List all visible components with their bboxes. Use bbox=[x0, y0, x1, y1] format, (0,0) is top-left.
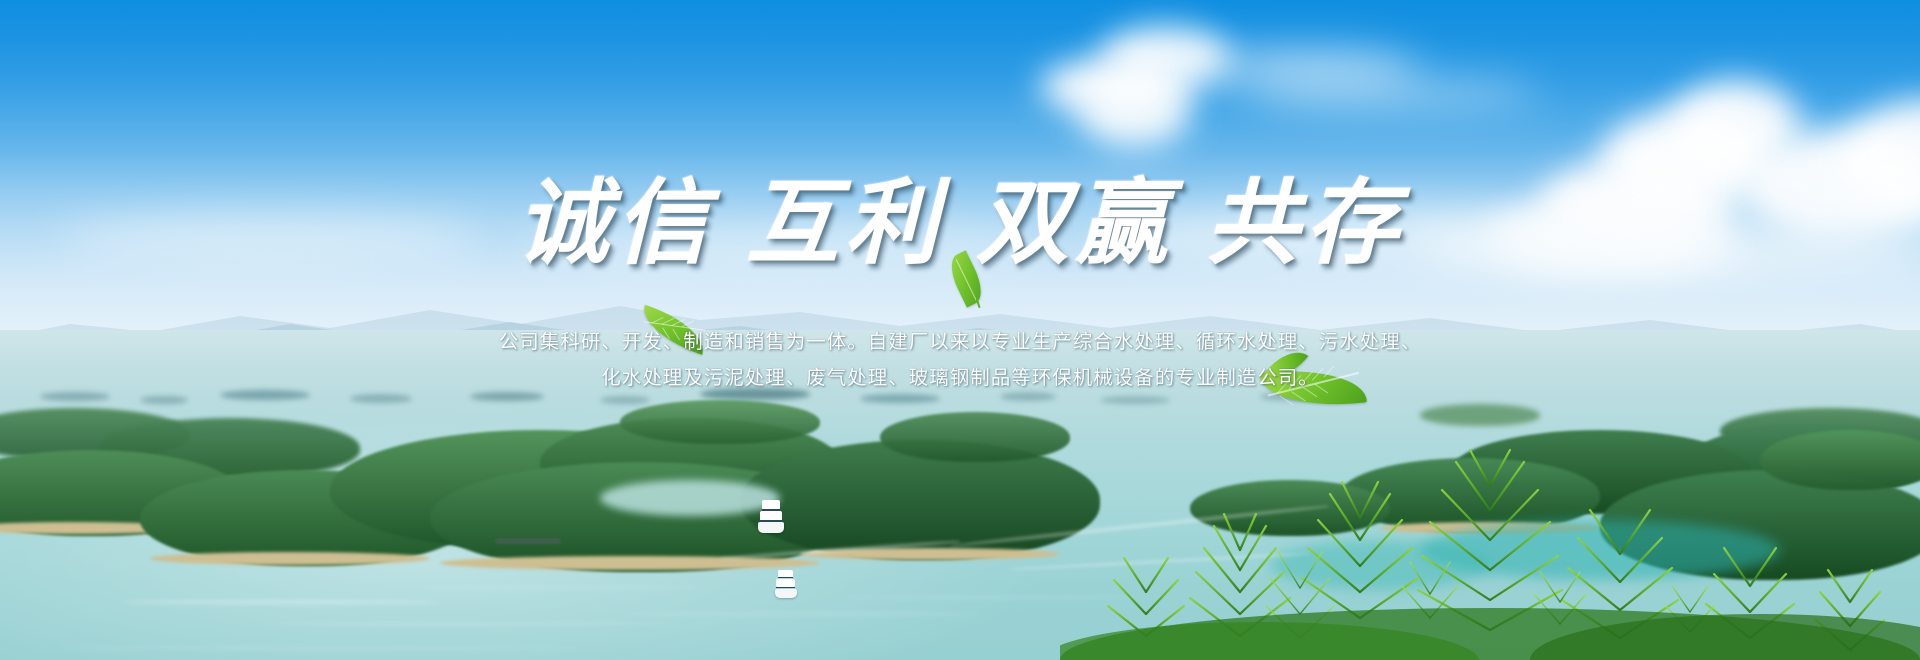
hero-banner: 诚信互利双赢共存 公司集科研、开发、制造和销售为一体。自建厂以来以专业生产综合水… bbox=[0, 0, 1920, 660]
subtitle-line-1: 公司集科研、开发、制造和销售为一体。自建厂以来以专业生产综合水处理、循环水处理、… bbox=[0, 333, 1920, 353]
headline-segment-1: 诚信 bbox=[500, 173, 730, 276]
barge bbox=[495, 538, 561, 544]
page-title: 诚信互利双赢共存 bbox=[0, 178, 1920, 271]
subtitle-line-2: 化水处理及污泥处理、废气处理、玻璃钢制品等环保机械设备的专业制造公司。 bbox=[0, 369, 1920, 389]
lagoon-highlight bbox=[600, 480, 780, 516]
pine-foliage bbox=[1060, 410, 1920, 660]
boat-small bbox=[775, 570, 797, 598]
boat-large bbox=[758, 500, 784, 534]
headline-segment-4: 共存 bbox=[1190, 173, 1420, 276]
headline-segment-3: 双赢 bbox=[960, 173, 1190, 276]
headline-segment-2: 互利 bbox=[730, 173, 960, 276]
